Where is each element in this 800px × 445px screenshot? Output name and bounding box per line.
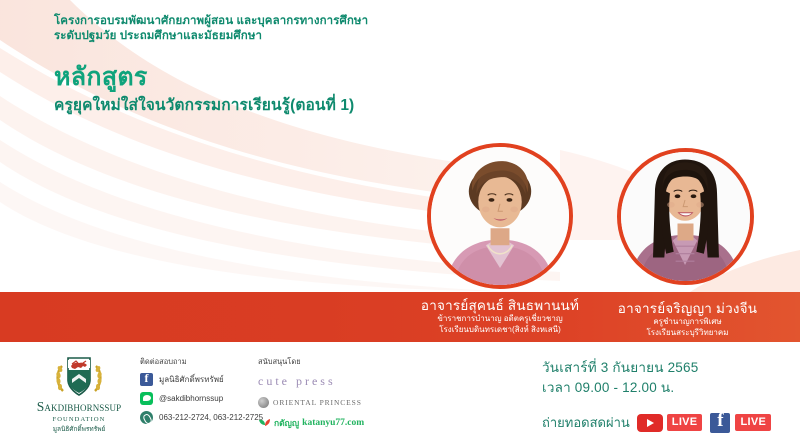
sponsor-block: สนับสนุนโดย cute press ORIENTAL PRINCESS… [258,356,408,430]
footer: Sakdibhornssup FOUNDATION มูลนิธิศักดิ์พ… [0,352,800,445]
avatar [617,148,754,285]
page-title: หลักสูตร [54,62,524,92]
oriental-princess-emblem-icon [258,397,269,408]
line-icon [140,392,153,405]
contact-block: ติดต่อสอบถาม มูลนิธิศักดิ์พรทรัพย์ @sakd… [140,356,260,430]
speaker-1-name: อาจารย์สุคนธ์ สินธพานนท์ [390,297,610,314]
sponsor-heading: สนับสนุนโดย [258,356,408,368]
program-subtitle: โครงการอบรมพัฒนาศักยภาพผู้สอน และบุคลากร… [54,14,524,43]
youtube-play-icon[interactable] [637,414,663,432]
contact-telephone-text: 063-212-2724, 063-212-2725 [159,413,263,422]
avatar [427,143,573,289]
broadcast-row: ถ่ายทอดสดผ่าน LIVE LIVE [542,412,792,433]
foundation-logo: Sakdibhornssup FOUNDATION มูลนิธิศักดิ์พ… [18,356,140,434]
sponsor-katanyu-domain: katanyu77.com [302,418,364,428]
logo-name: Sakdibhornssup [18,399,140,415]
speaker-2-role: ครูชำนาญการพิเศษ [600,317,775,328]
event-time: เวลา 09.00 - 12.00 น. [542,378,792,398]
contact-facebook-text: มูลนิธิศักดิ์พรทรัพย์ [159,373,224,386]
sponsor-katanyu: กตัญญู katanyu77.com [258,416,408,430]
contact-row-facebook[interactable]: มูลนิธิศักดิ์พรทรัพย์ [140,373,260,386]
sponsor-oriental-princess-label: ORIENTAL PRINCESS [273,398,362,407]
headline-block: โครงการอบรมพัฒนาศักยภาพผู้สอน และบุคลากร… [54,14,524,117]
event-date: วันเสาร์ที่ 3 กันยายน 2565 [542,358,792,378]
contact-row-line[interactable]: @sakdibhornssup [140,392,260,405]
speaker-1-affiliation: โรงเรียนบดินทรเดชา(สิงห์ สิงหเสนี) [390,325,610,336]
schedule-block: วันเสาร์ที่ 3 กันยายน 2565 เวลา 09.00 - … [542,358,792,433]
speaker-2-caption: อาจารย์จริญญา ม่วงจีน ครูชำนาญการพิเศษ โ… [600,300,775,338]
telephone-icon [140,411,153,424]
contact-line-text: @sakdibhornssup [159,394,223,403]
speaker-1-role: ข้าราชการบำนาญ อดีตครูเชี่ยวชาญ [390,314,610,325]
course-title: ครูยุคใหม่ใส่ใจนวัตกรรมการเรียนรู้(ตอนที… [54,95,524,117]
sponsor-oriental-princess: ORIENTAL PRINCESS [258,397,408,408]
facebook-icon [140,373,153,386]
sponsor-katanyu-thai: กตัญญู [274,416,299,430]
katanyu-leaf-icon [258,418,271,429]
speaker-1-photo [431,147,569,285]
contact-heading: ติดต่อสอบถาม [140,356,260,368]
contact-row-telephone[interactable]: 063-212-2724, 063-212-2725 [140,411,260,424]
logo-thai-name: มูลนิธิศักดิ์พรทรัพย์ [18,424,140,434]
speaker-2-affiliation: โรงเรียนสระบุรีวิทยาคม [600,328,775,339]
speaker-2-photo [621,152,750,281]
logo-foundation-label: FOUNDATION [18,416,140,423]
speaker-2-name: อาจารย์จริญญา ม่วงจีน [600,300,775,317]
youtube-live-badge[interactable]: LIVE [667,414,703,431]
horse-shield-crest-icon [50,356,108,398]
webinar-poster: โครงการอบรมพัฒนาศักยภาพผู้สอน และบุคลากร… [0,0,800,445]
facebook-live-badge[interactable]: LIVE [735,414,771,431]
speaker-1-caption: อาจารย์สุคนธ์ สินธพานนท์ ข้าราชการบำนาญ … [390,297,610,335]
broadcast-label: ถ่ายทอดสดผ่าน [542,412,630,433]
facebook-icon[interactable] [710,413,730,433]
sponsor-cute-press: cute press [258,374,408,389]
